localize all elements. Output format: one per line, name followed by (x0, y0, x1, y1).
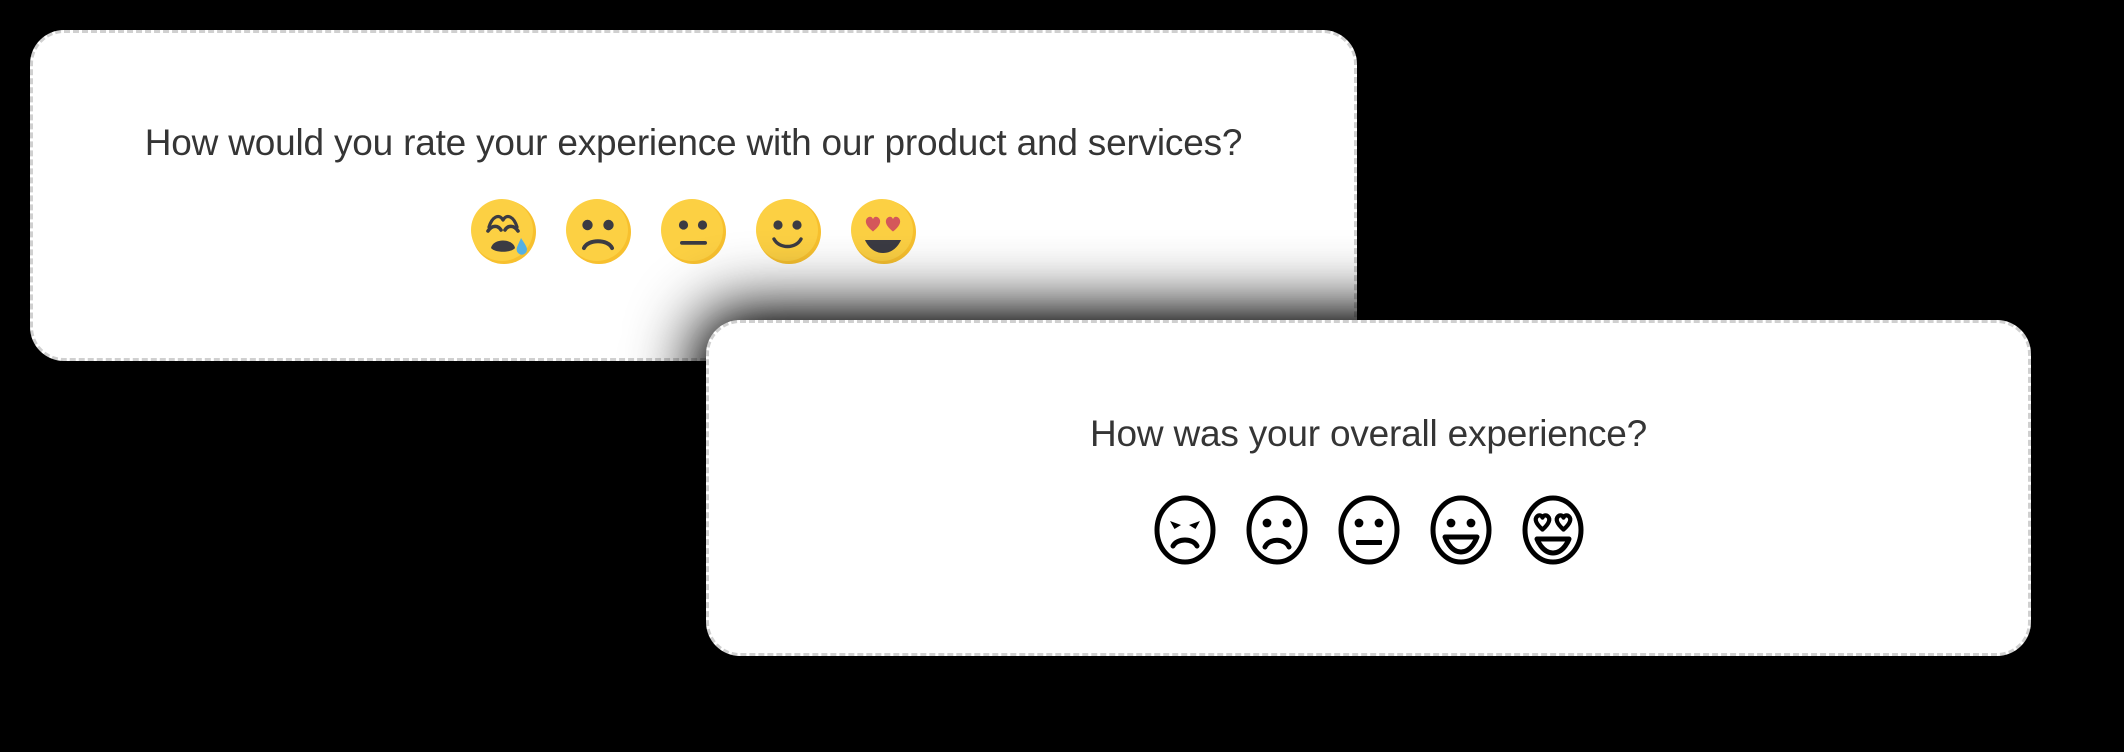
frowning-face-icon[interactable] (563, 196, 635, 268)
heart-eyes-outline-icon[interactable] (1511, 488, 1595, 572)
card-1-emoji-rating-row (468, 196, 920, 268)
product-services-rating-card: How would you rate your experience with … (30, 30, 1357, 361)
happy-face-outline-icon[interactable] (1419, 488, 1503, 572)
crying-face-icon[interactable] (468, 196, 540, 268)
overall-experience-rating-card: How was your overall experience? (706, 320, 2031, 656)
card-2-emoji-rating-row (1143, 488, 1595, 572)
card-2-question-title: How was your overall experience? (1050, 410, 1687, 459)
heart-eyes-face-icon[interactable] (848, 196, 920, 268)
angry-face-outline-icon[interactable] (1143, 488, 1227, 572)
sad-face-outline-icon[interactable] (1235, 488, 1319, 572)
screenshot-stage: How would you rate your experience with … (0, 0, 2124, 752)
neutral-face-icon[interactable] (658, 196, 730, 268)
card-1-question-title: How would you rate your experience with … (105, 119, 1283, 168)
neutral-face-outline-icon[interactable] (1327, 488, 1411, 572)
slightly-smiling-face-icon[interactable] (753, 196, 825, 268)
